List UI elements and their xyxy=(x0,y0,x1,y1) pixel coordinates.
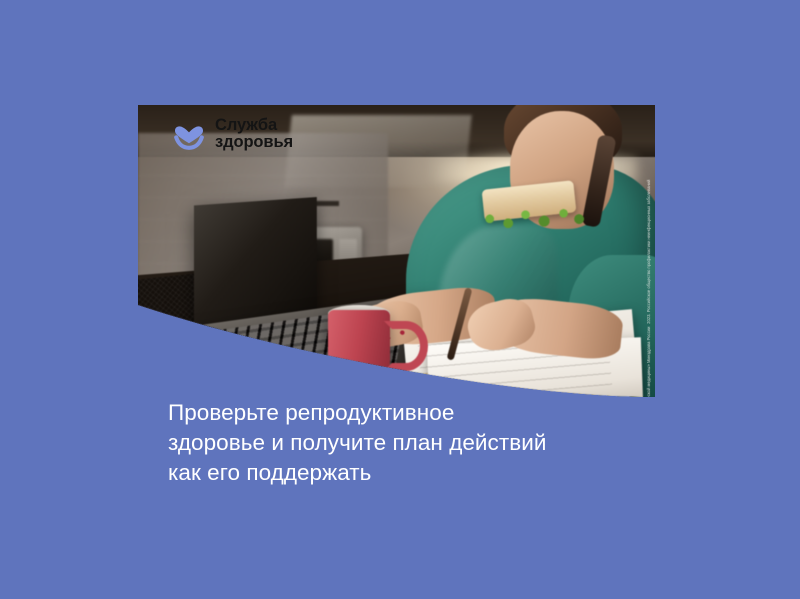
credit-block: Подготовлено ФГБУ «НМИЦ терапии и профил… xyxy=(646,179,651,398)
credit-line-3: 2023. Российское общество профилактики н… xyxy=(646,179,651,323)
credit-line-2: ФГБУ «НМИЦ терапии и профилактической ме… xyxy=(646,326,651,398)
page-title: Проверьте репродуктивное здоровье и полу… xyxy=(168,398,638,488)
mug-handle xyxy=(384,321,428,371)
brand-logo: Служба здоровья xyxy=(172,117,293,152)
hero-photo: Служба здоровья Подготовлено ФГБУ «НМИЦ … xyxy=(138,105,655,398)
heart-smile-icon xyxy=(172,117,206,151)
coffee-mug xyxy=(328,310,390,378)
poster-canvas: Служба здоровья Подготовлено ФГБУ «НМИЦ … xyxy=(0,0,800,599)
brand-name: Служба здоровья xyxy=(215,117,293,152)
